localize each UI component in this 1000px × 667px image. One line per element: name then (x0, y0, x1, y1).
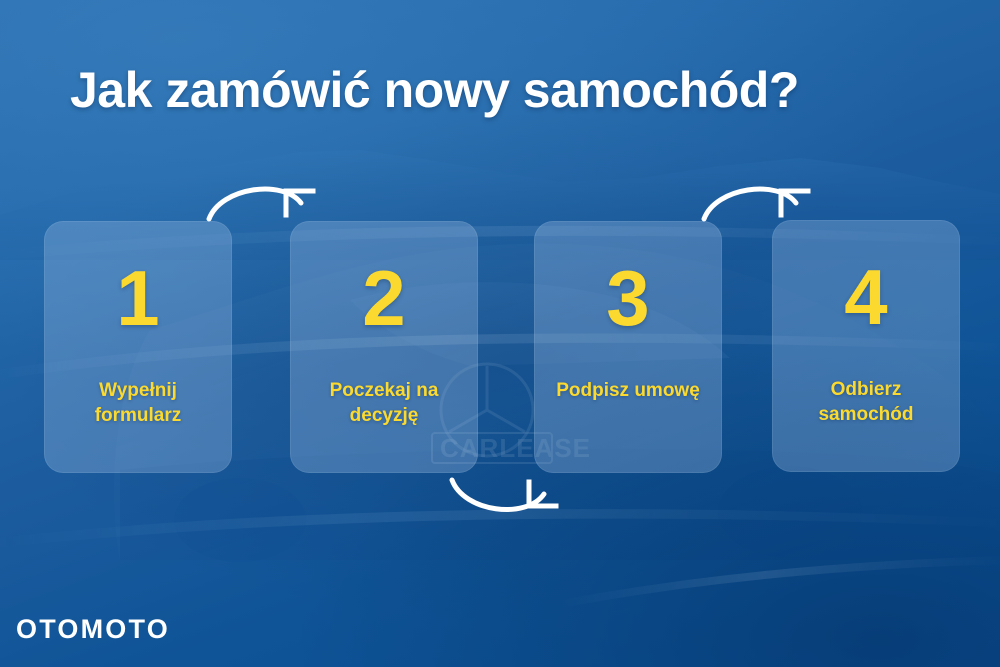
step-card-1[interactable]: 1 Wypełnij formularz (44, 221, 232, 473)
step-number-1: 1 (116, 259, 159, 337)
step-label-4: Odbierz samochód (772, 378, 960, 427)
step-label-1: Wypełnij formularz (44, 379, 232, 428)
otomoto-logo[interactable]: OTOMOTO (16, 614, 170, 645)
step-number-4: 4 (844, 258, 887, 336)
page-title: Jak zamówić nowy samochód? (70, 64, 799, 117)
infographic-canvas: CARLEASE Jak zamówić nowy samochód? 1 Wy… (0, 0, 1000, 667)
step-number-2: 2 (362, 259, 405, 337)
step-card-3[interactable]: 3 Podpisz umowę (534, 221, 722, 473)
step-label-2: Poczekaj na decyzję (290, 379, 478, 428)
step-card-2[interactable]: 2 Poczekaj na decyzję (290, 221, 478, 473)
step-label-3: Podpisz umowę (546, 379, 710, 404)
otomoto-logo-text: OTOMOTO (16, 614, 170, 645)
step-number-3: 3 (606, 259, 649, 337)
step-card-4[interactable]: 4 Odbierz samochód (772, 220, 960, 472)
